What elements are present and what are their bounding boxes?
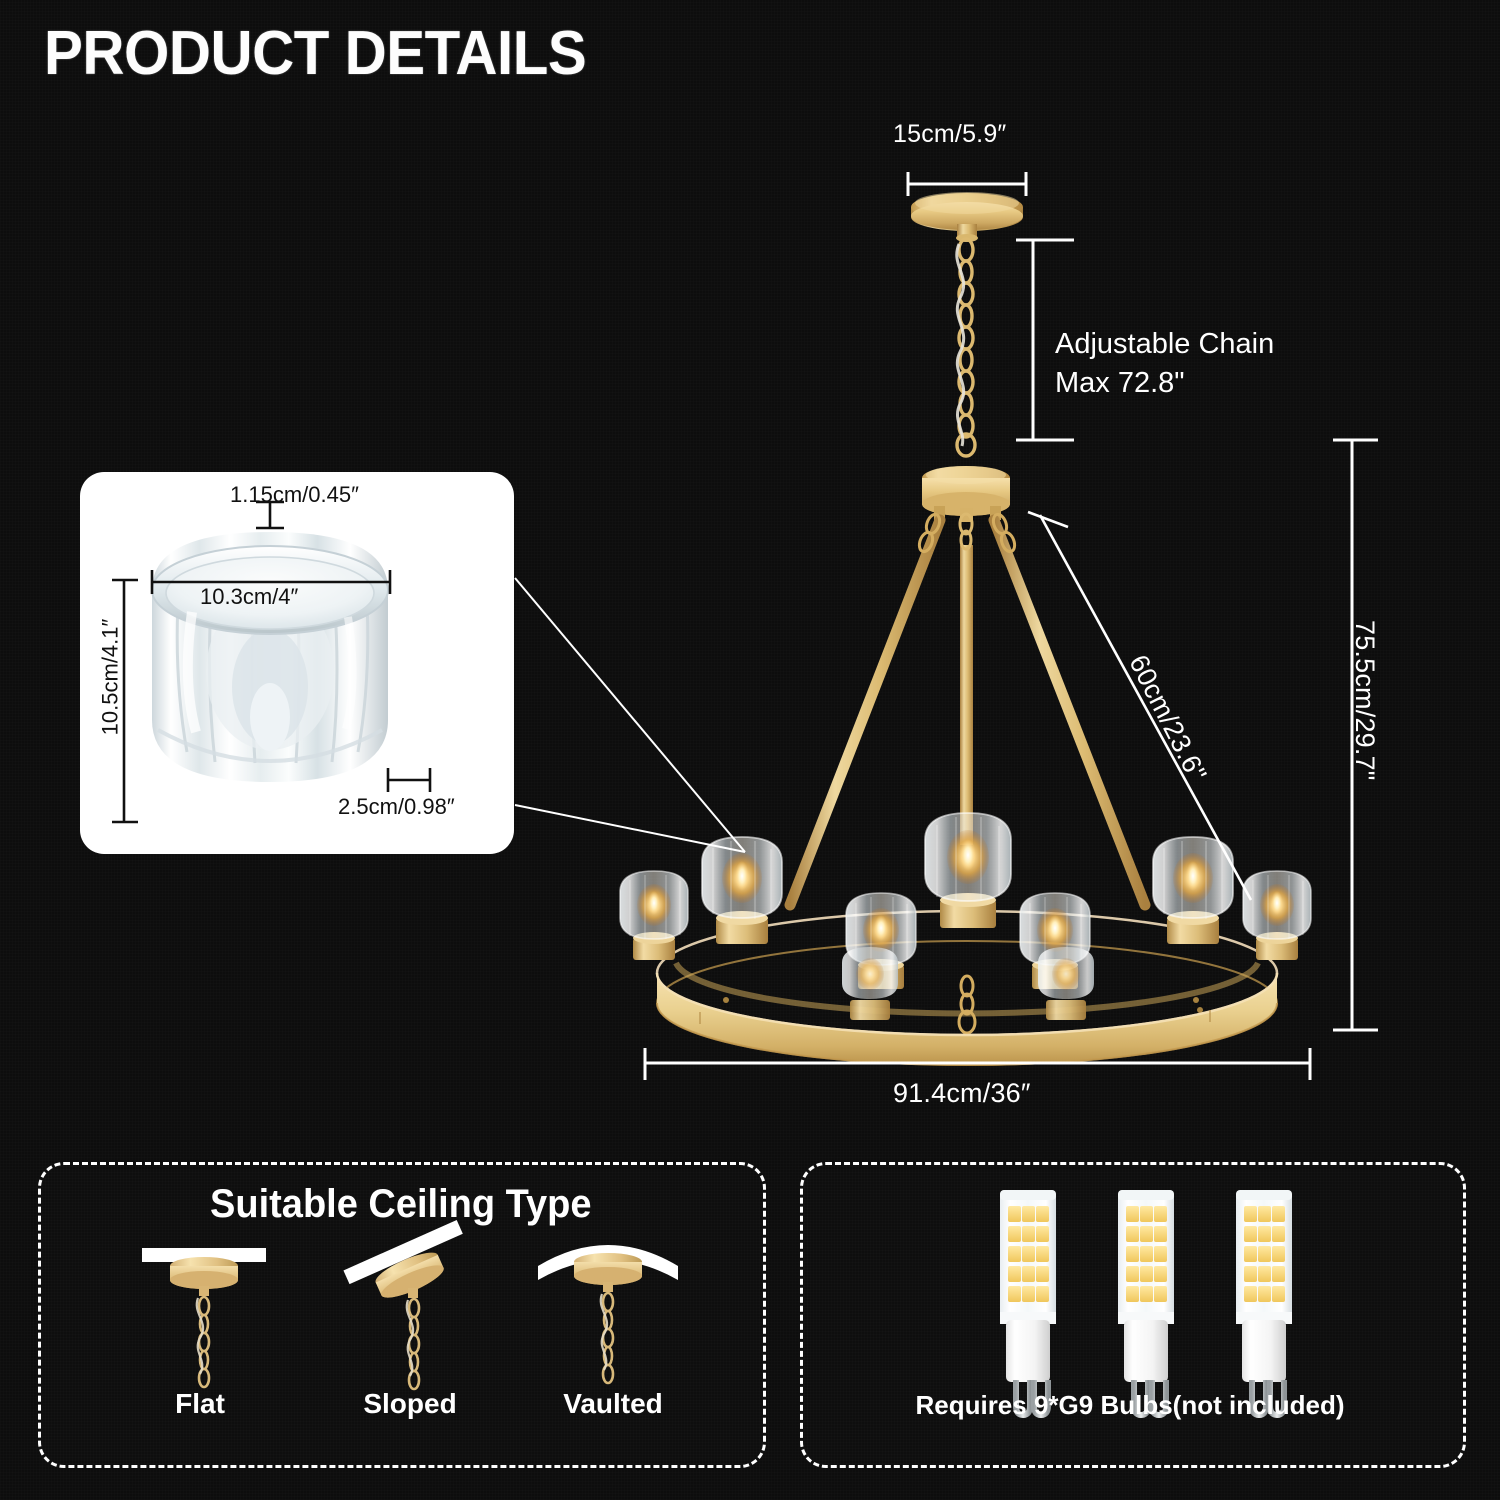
page-title: PRODUCT DETAILS — [44, 18, 586, 89]
glass-dim-top-opening: 1.15cm/0.45″ — [230, 482, 359, 508]
vaulted-ceiling-icon — [538, 1245, 678, 1383]
glass-shade — [842, 947, 898, 1020]
glass-dim-base-width: 2.5cm/0.98″ — [338, 794, 455, 820]
center-rod — [960, 514, 973, 845]
bulb-requirement-caption: Requires 9*G9 Bulbs(not included) — [800, 1390, 1460, 1421]
ceiling-type-label-flat: Flat — [140, 1388, 260, 1420]
glass-shade — [1038, 947, 1094, 1020]
dim-label-total-height: 75.5cm/29.7" — [1349, 620, 1380, 781]
glass-shade-group-outer — [620, 813, 1311, 960]
glass-shade-detail-card: 1.15cm/0.45″ 10.3cm/4″ 10.5cm/4.1″ 2.5cm… — [80, 472, 514, 854]
glass-shade-group-far — [842, 947, 1094, 1020]
sloped-ceiling-icon — [343, 1220, 462, 1389]
flat-ceiling-icon — [142, 1248, 266, 1387]
ceiling-canopy — [911, 192, 1023, 242]
glass-shade — [1243, 871, 1311, 960]
hanging-chain — [957, 239, 975, 456]
glass-shade — [702, 837, 782, 944]
lower-chain — [959, 976, 975, 1033]
g9-bulb — [1236, 1190, 1292, 1415]
ceiling-type-label-vaulted: Vaulted — [548, 1388, 678, 1420]
glass-shade — [620, 871, 688, 960]
dim-label-chain-line2: Max 72.8" — [1055, 364, 1274, 403]
ceiling-panel-title: Suitable Ceiling Type — [210, 1182, 591, 1227]
g9-bulb — [1118, 1190, 1174, 1415]
glass-dim-height: 10.5cm/4.1″ — [97, 619, 123, 736]
glass-dim-width: 10.3cm/4″ — [200, 584, 298, 610]
glass-shade — [1153, 837, 1233, 944]
dim-label-canopy-width: 15cm/5.9″ — [893, 120, 1006, 149]
dim-label-ring-diameter: 91.4cm/36″ — [893, 1078, 1031, 1109]
ceiling-type-label-sloped: Sloped — [350, 1388, 470, 1420]
dim-label-chain: Adjustable Chain Max 72.8" — [1055, 325, 1274, 403]
inset-leader-lines — [515, 578, 745, 852]
g9-bulb — [1000, 1190, 1056, 1418]
dim-label-chain-line1: Adjustable Chain — [1055, 325, 1274, 364]
